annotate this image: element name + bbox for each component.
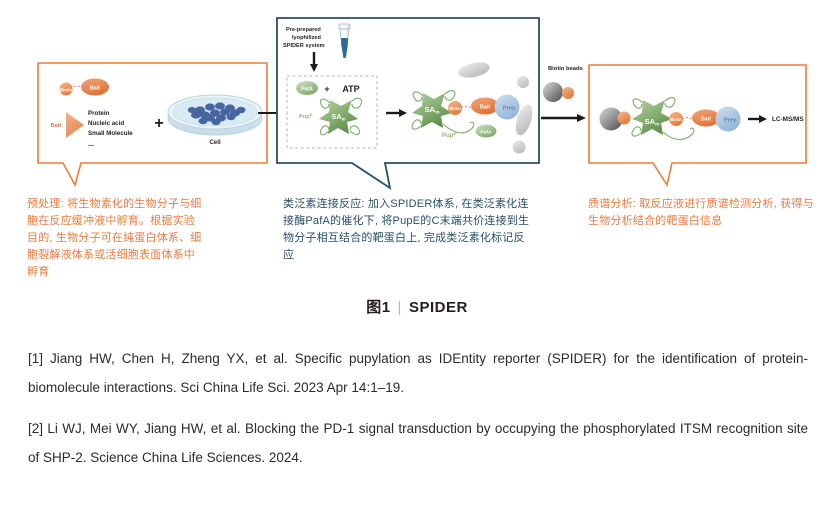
- product-bait-label: Bait: [480, 105, 490, 111]
- list-small-molecule: Small Molecule: [88, 130, 133, 137]
- panel-ms-analysis: SAm Biotin Bait Prey LC-MS/MS: [589, 65, 806, 185]
- plus-sign: +: [154, 115, 163, 132]
- lc-ms-label: LC-MS/MS: [772, 116, 804, 123]
- list-ellipsis: ...: [88, 141, 94, 148]
- bait-label: Bait: [90, 86, 100, 92]
- pafa-label: PafA: [301, 87, 313, 93]
- cell-label: Cell: [209, 139, 221, 146]
- ms-bait-label: Bait: [701, 117, 711, 123]
- caption-step-1: 预处理: 将生物素化的生物分子与细胞在反应缓冲液中孵育。根据实验目的, 生物分子…: [27, 196, 203, 281]
- list-nucleic-acid: Nucleic acid: [88, 120, 124, 127]
- product-prey-label: Prey: [503, 106, 516, 112]
- panel-pretreatment: Biotin Bait Bait Protein Nucleic acid Sm…: [38, 63, 267, 185]
- figure-title-prefix: 图1: [366, 299, 390, 316]
- bait-wedge-label: Bait: [51, 123, 62, 129]
- figure-title-separator: |: [391, 299, 409, 316]
- tube-label-line1: Pre-prepared: [286, 27, 321, 33]
- biotin-beads-group: Biotin beads: [541, 66, 586, 122]
- reference-item-2: [2] Li WJ, Mei WY, Jiang HW, et al. Bloc…: [28, 414, 808, 472]
- atp-label: ATP: [342, 84, 359, 94]
- step-captions: 预处理: 将生物素化的生物分子与细胞在反应缓冲液中孵育。根据实验目的, 生物分子…: [0, 196, 834, 296]
- pafa-atp-group: PafA + ATP: [296, 81, 360, 95]
- tube-label-line3: SPIDER system: [283, 43, 325, 49]
- biotin-beads-label: Biotin beads: [548, 66, 583, 72]
- panel-pupylation: Pre-prepared lyophilized SPIDER system P…: [277, 18, 539, 188]
- biotin-label: Biotin: [60, 88, 73, 93]
- ms-biotin-label: Biotin: [670, 117, 682, 122]
- plus-sign-2: +: [324, 84, 329, 94]
- reference-list: [1] Jiang HW, Chen H, Zheng YX, et al. S…: [28, 344, 808, 472]
- caption-step-2: 类泛素连接反应: 加入SPIDER体系, 在类泛素化连接酶PafA的催化下, 将…: [283, 196, 530, 264]
- figure-title-name: SPIDER: [409, 299, 468, 316]
- tube-label-line2: lyophilized: [292, 35, 321, 41]
- reference-item-1: [1] Jiang HW, Chen H, Zheng YX, et al. S…: [28, 344, 808, 402]
- product-pafa-label: PafA: [481, 130, 492, 136]
- figure-title: 图1|SPIDER: [0, 296, 834, 317]
- list-protein: Protein: [88, 110, 110, 117]
- product-biotin-label: Biotin: [449, 106, 461, 111]
- caption-step-3: 质谱分析: 取反应液进行质谱检测分析, 获得与生物分析结合的靶蛋白信息: [588, 196, 816, 230]
- ms-prey-label: Prey: [724, 118, 737, 124]
